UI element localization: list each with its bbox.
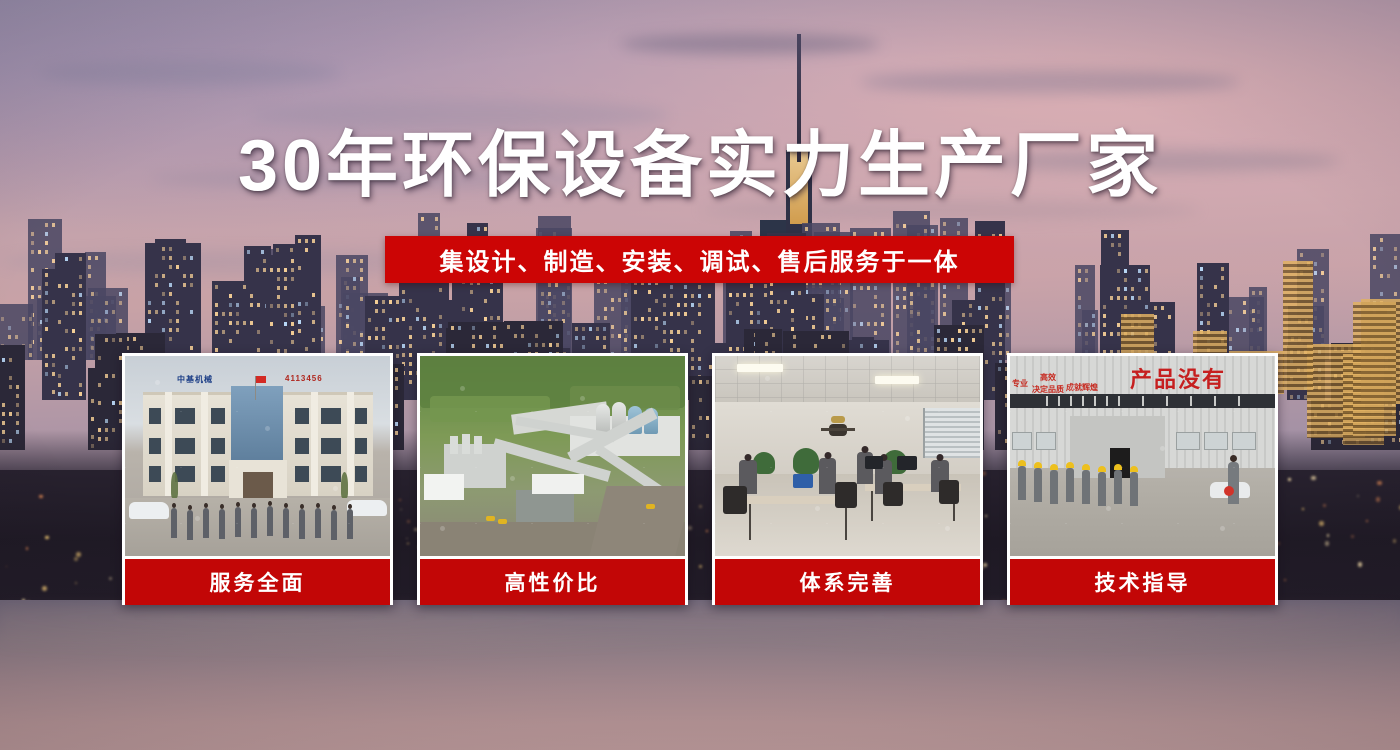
- hillside-light: [1302, 508, 1304, 510]
- hillside-light: [42, 586, 47, 591]
- card-photo-office-building: 中基机械 4113456: [125, 356, 390, 556]
- card-caption-text: 高性价比: [505, 567, 601, 597]
- building: [55, 253, 86, 400]
- hillside-light: [76, 552, 80, 556]
- hillside-light: [1288, 478, 1291, 481]
- building: [914, 290, 935, 360]
- hillside-light: [1323, 504, 1326, 507]
- feature-card[interactable]: 中基机械 4113456: [122, 353, 393, 605]
- wall-decal: [821, 414, 855, 444]
- card-caption-bar: 技术指导: [1010, 559, 1275, 605]
- hillside-light: [1351, 535, 1354, 538]
- feature-card[interactable]: 高性价比: [417, 353, 688, 605]
- feature-card[interactable]: 产品没有 专业 高效 决定品质 成就辉煌: [1007, 353, 1278, 605]
- feature-card-list: 中基机械 4113456: [122, 353, 1278, 605]
- hillside-light: [39, 495, 43, 499]
- card-photo-industrial-plant: [420, 356, 685, 556]
- hillside-light: [1311, 476, 1315, 480]
- water-reflection: [0, 604, 1400, 664]
- hillside-light: [1393, 539, 1397, 543]
- hillside-light: [1357, 495, 1359, 497]
- factory-slogan-4: 成就辉煌: [1066, 382, 1098, 393]
- building: [1249, 287, 1267, 360]
- hillside-light: [1327, 534, 1329, 536]
- card-caption-bar: 高性价比: [420, 559, 685, 605]
- building-phone-text: 4113456: [285, 374, 323, 383]
- hillside-light: [45, 536, 48, 539]
- hillside-light: [1325, 541, 1329, 545]
- hillside-light: [1377, 481, 1381, 485]
- card-caption-text: 服务全面: [210, 567, 306, 597]
- building-sign-text: 中基机械: [177, 374, 213, 385]
- subtitle-bar: 集设计、制造、安装、调试、售后服务于一体: [385, 236, 1014, 283]
- hillside-light: [1319, 521, 1324, 526]
- hillside-light: [74, 557, 78, 561]
- feature-card[interactable]: 体系完善: [712, 353, 983, 605]
- card-caption-bar: 服务全面: [125, 559, 390, 605]
- illuminated-building: [1353, 302, 1396, 437]
- card-photo-office-interior: [715, 356, 980, 556]
- headline-text: 30年环保设备实力生产厂家: [0, 128, 1400, 204]
- hillside-light: [1366, 520, 1368, 522]
- hillside-light: [75, 582, 77, 584]
- hillside-light: [6, 566, 8, 568]
- illuminated-building: [1283, 261, 1313, 391]
- hillside-light: [1358, 562, 1363, 567]
- card-caption-text: 体系完善: [800, 567, 896, 597]
- factory-wall-text: 产品没有: [1130, 362, 1226, 394]
- factory-slogan-1: 专业: [1012, 378, 1028, 389]
- hillside-light: [1284, 579, 1286, 581]
- promo-banner: 30年环保设备实力生产厂家 集设计、制造、安装、调试、售后服务于一体: [0, 0, 1400, 750]
- subtitle-text: 集设计、制造、安装、调试、售后服务于一体: [440, 242, 960, 277]
- card-photo-workers-factory: 产品没有 专业 高效 决定品质 成就辉煌: [1010, 356, 1275, 556]
- hillside-light: [109, 577, 112, 580]
- hillside-light: [26, 547, 28, 549]
- hillside-light: [1376, 497, 1380, 501]
- factory-slogan-2: 高效: [1040, 372, 1056, 383]
- card-caption-bar: 体系完善: [715, 559, 980, 605]
- card-caption-text: 技术指导: [1095, 567, 1191, 597]
